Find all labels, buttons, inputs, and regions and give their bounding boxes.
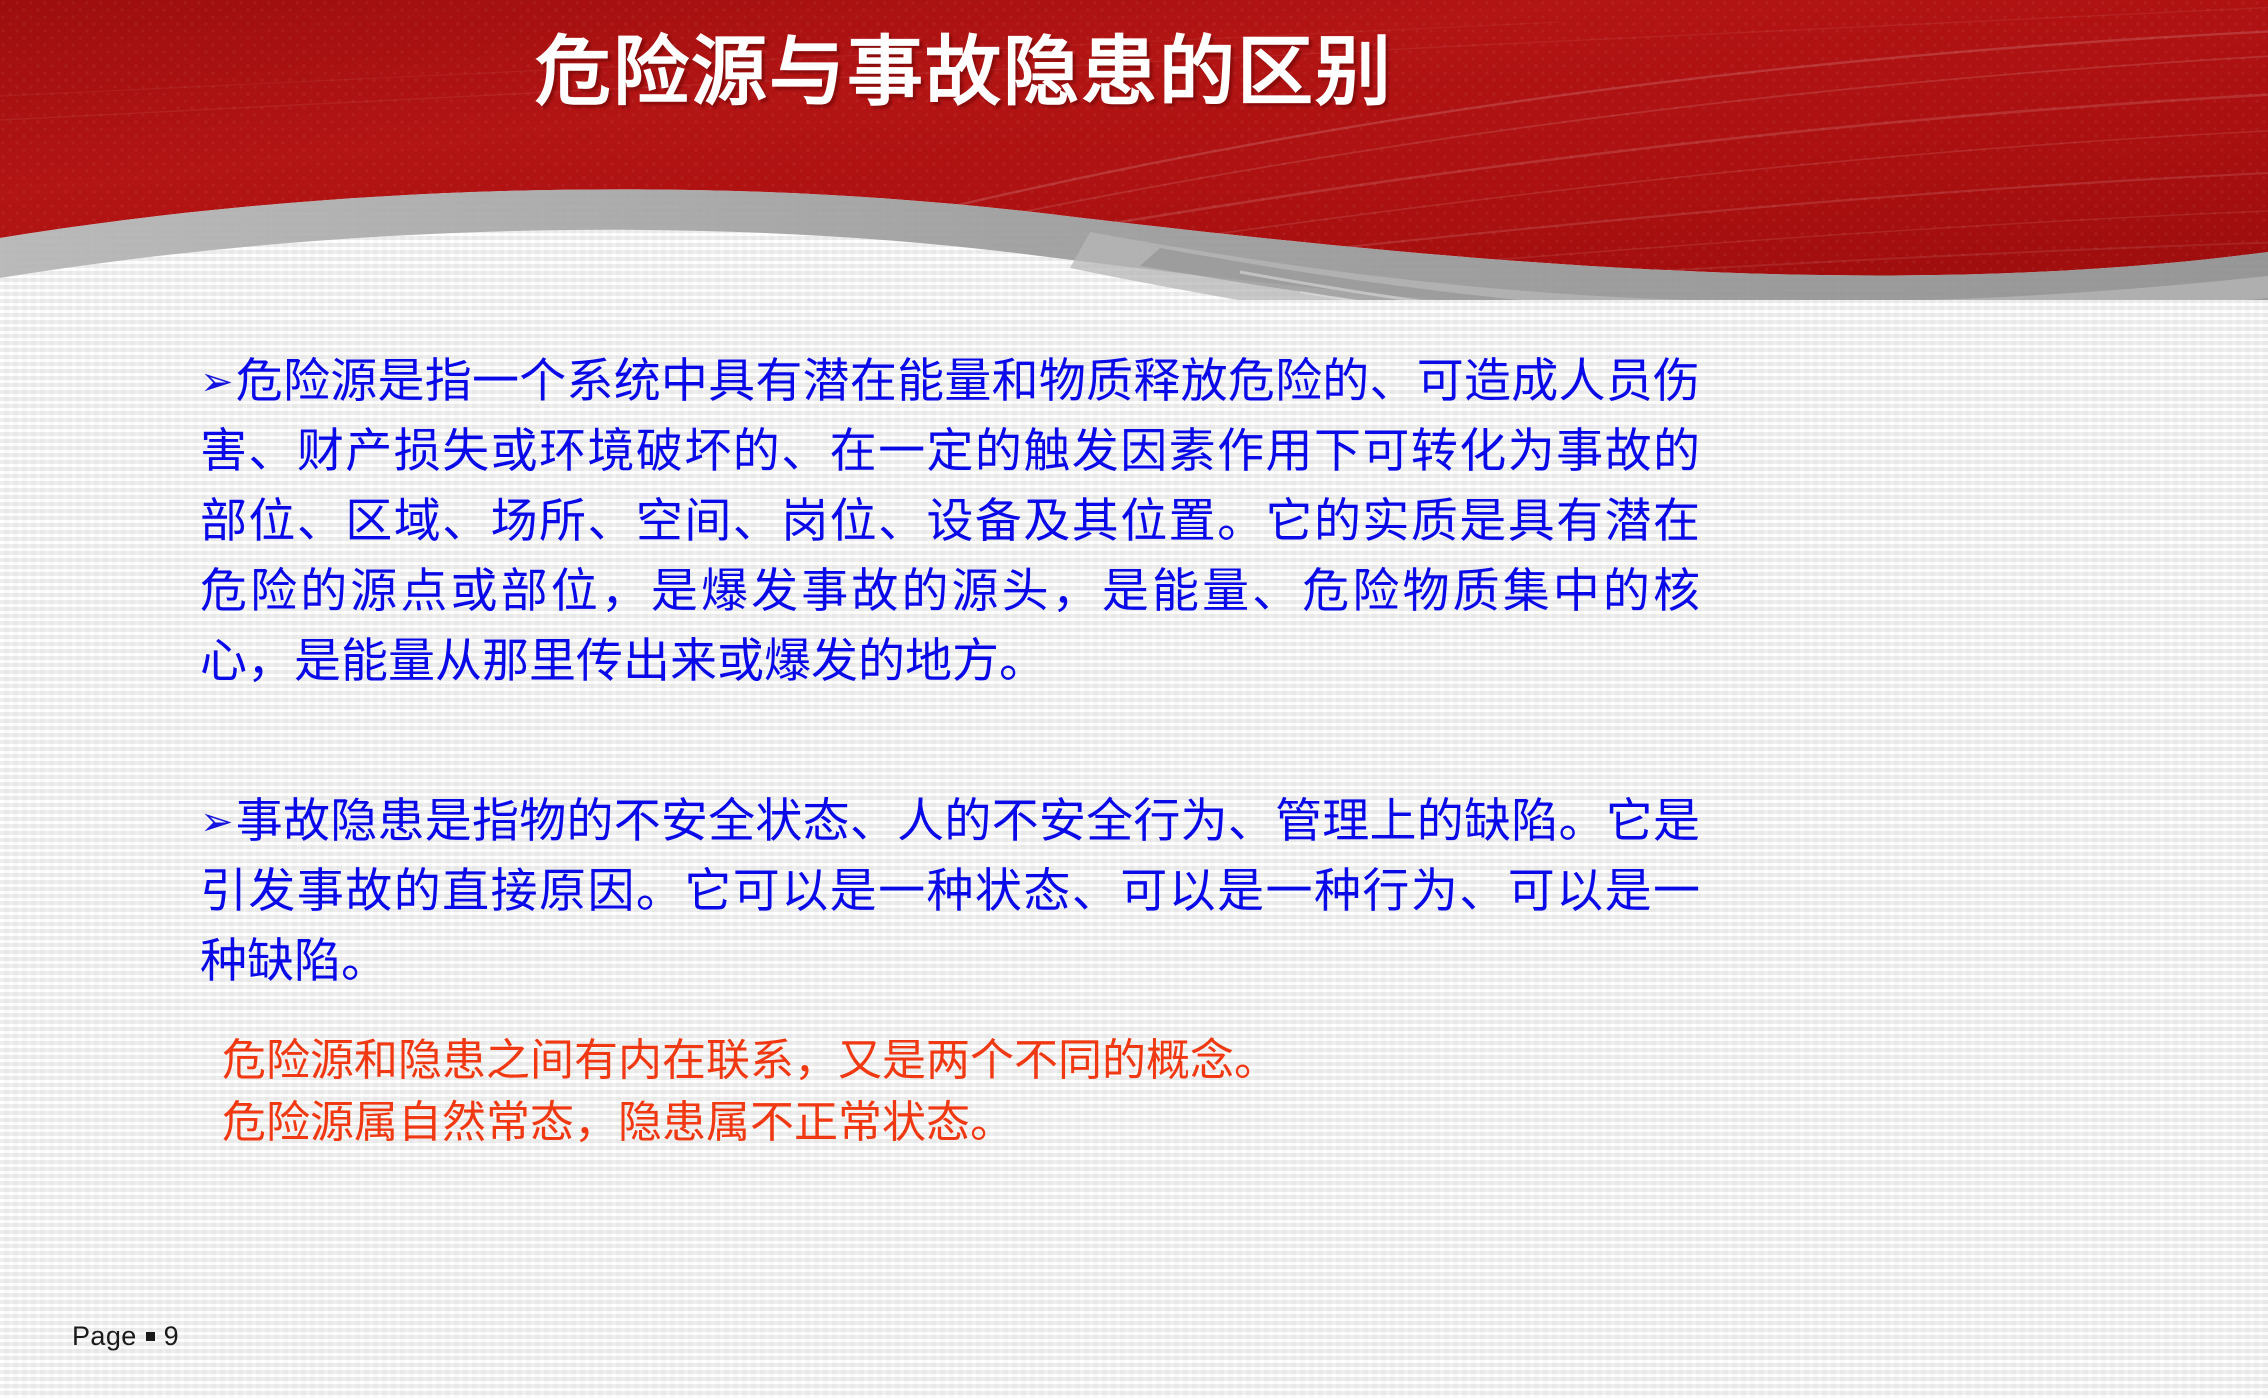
page-label: Page bbox=[72, 1321, 137, 1352]
page-footer: Page 9 bbox=[72, 1321, 179, 1352]
header-banner bbox=[0, 0, 2268, 300]
slide-content: ➢危险源是指一个系统中具有潜在能量和物质释放危险的、可造成人员伤害、财产损失或环… bbox=[0, 300, 2268, 1398]
note-line-state: 危险源属自然常态，隐患属不正常状态。 bbox=[222, 1092, 1014, 1154]
arrow-bullet-icon: ➢ bbox=[200, 359, 236, 405]
page-number: 9 bbox=[164, 1321, 179, 1352]
note-line-relationship: 危险源和隐患之间有内在联系，又是两个不同的概念。 bbox=[222, 1030, 1278, 1092]
slide: 危险源与事故隐患的区别 ➢危险源是指一个系统中具有潜在能量和物质释放危险的、可造… bbox=[0, 0, 2268, 1398]
arrow-bullet-icon: ➢ bbox=[200, 799, 236, 845]
paragraph-text-accident-hazard: 事故隐患是指物的不安全状态、人的不安全行为、管理上的缺陷。它是引发事故的直接原因… bbox=[200, 794, 1700, 989]
square-bullet-icon bbox=[146, 1332, 155, 1341]
bullet-paragraph-accident-hazard: ➢事故隐患是指物的不安全状态、人的不安全行为、管理上的缺陷。它是引发事故的直接原… bbox=[200, 787, 1700, 997]
bullet-paragraph-hazard-source: ➢危险源是指一个系统中具有潜在能量和物质释放危险的、可造成人员伤害、财产损失或环… bbox=[200, 347, 1700, 697]
paragraph-text-hazard-source: 危险源是指一个系统中具有潜在能量和物质释放危险的、可造成人员伤害、财产损失或环境… bbox=[200, 354, 1700, 689]
banner-wave-graphic bbox=[0, 0, 2268, 300]
